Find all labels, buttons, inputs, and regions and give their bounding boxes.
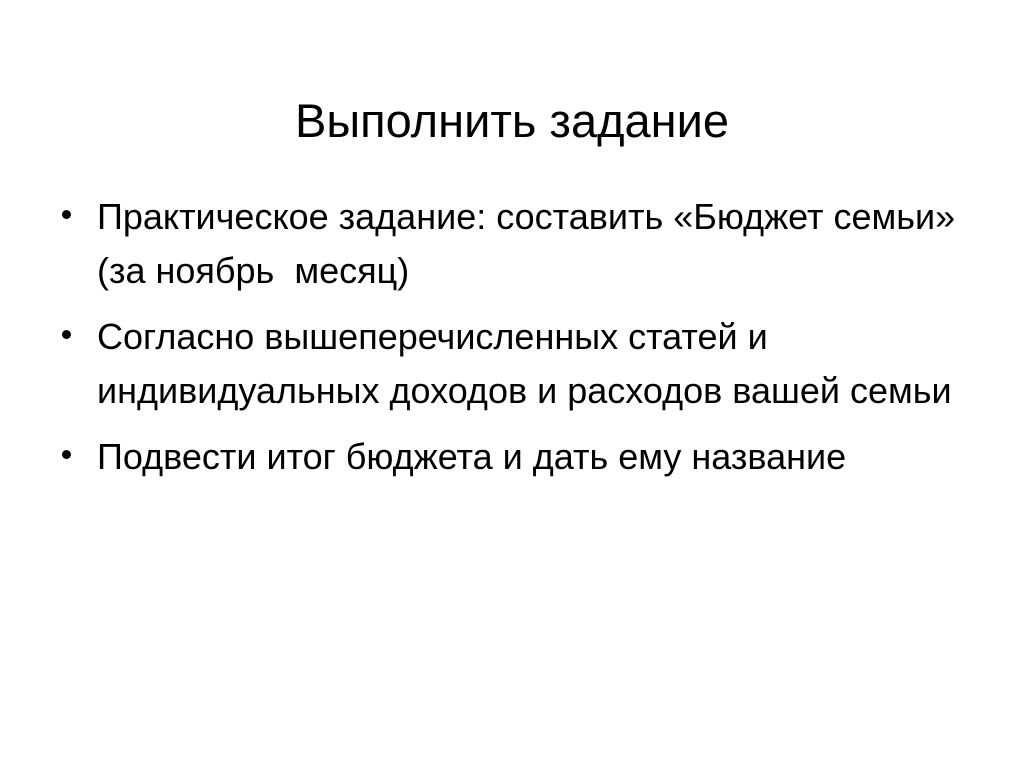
presentation-slide: Выполнить задание Практическое задание: …	[0, 0, 1024, 767]
page-title: Выполнить задание	[0, 93, 1024, 149]
round-bullet-icon	[62, 210, 71, 219]
list-item-text: Практическое задание: составить «Бюджет …	[97, 190, 957, 298]
list-item: Согласно вышеперечисленных статей и инди…	[52, 310, 957, 418]
round-bullet-icon	[62, 330, 71, 339]
list-item: Подвести итог бюджета и дать ему названи…	[52, 430, 957, 484]
list-item: Практическое задание: составить «Бюджет …	[52, 190, 957, 298]
round-bullet-icon	[62, 450, 71, 459]
bullet-list: Практическое задание: составить «Бюджет …	[52, 190, 957, 484]
list-item-text: Согласно вышеперечисленных статей и инди…	[97, 310, 957, 418]
list-item-text: Подвести итог бюджета и дать ему названи…	[97, 430, 957, 484]
